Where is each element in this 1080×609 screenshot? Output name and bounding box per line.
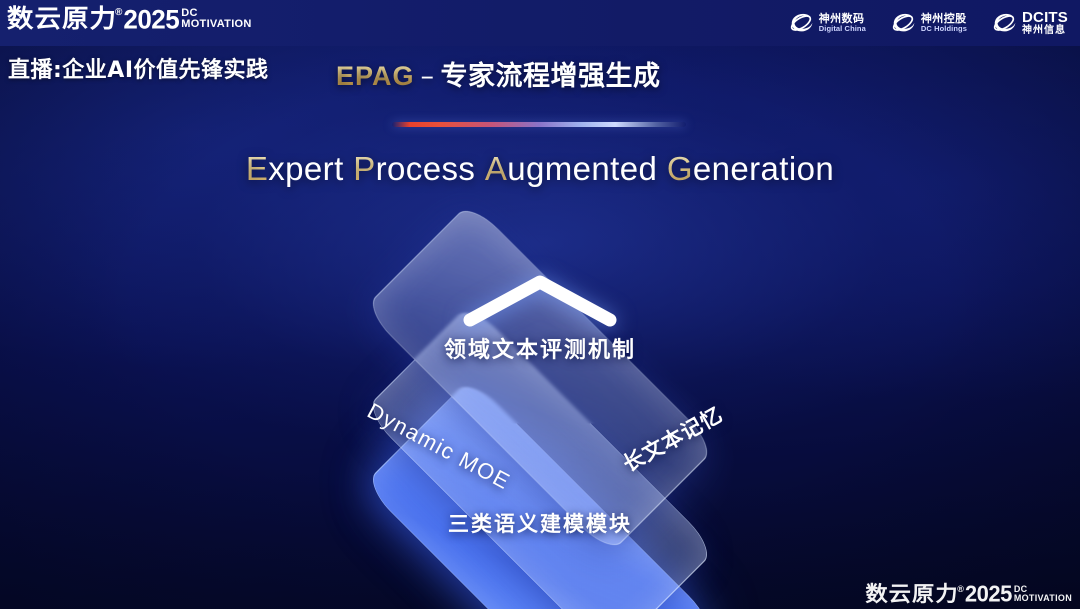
subtitle-rest-generation: eneration bbox=[693, 150, 834, 187]
chevron-up-icon bbox=[460, 272, 620, 330]
subtitle-cap-e: E bbox=[246, 150, 268, 187]
partner-name-en: 神州信息 bbox=[1022, 26, 1068, 37]
watermark-dc-motivation: DC MOTIVATION bbox=[1012, 583, 1072, 603]
presentation-slide: 数云原力 ® 2025 DC MOTIVATION 神州数码 Digital C… bbox=[0, 0, 1080, 609]
layer-bottom-label: 三类语义建模模块 bbox=[448, 508, 632, 538]
subtitle-rest-augmented: ugmented bbox=[507, 150, 657, 187]
watermark-year: 2025 bbox=[965, 583, 1012, 606]
page-title: EPAG–专家流程增强生成 bbox=[336, 54, 661, 93]
layer-top-label: 领域文本评测机制 bbox=[444, 332, 636, 364]
swirl-icon bbox=[890, 10, 916, 36]
watermark-name-cn: 数云原力 bbox=[866, 583, 959, 605]
brand-logo: 数云原力 ® 2025 DC MOTIVATION bbox=[10, 6, 252, 32]
partner-name-en: Digital China bbox=[819, 25, 866, 33]
watermark-logo: 数云原力 ® 2025 DC MOTIVATION bbox=[868, 583, 1072, 605]
brand-motivation: MOTIVATION bbox=[181, 19, 251, 30]
partner-text: DCITS 神州信息 bbox=[1022, 10, 1068, 36]
subtitle-rest-expert: xpert bbox=[268, 150, 343, 187]
partner-dc-holdings: 神州控股 DC Holdings bbox=[890, 10, 967, 36]
subtitle-rest-process: rocess bbox=[376, 150, 476, 187]
subtitle-cap-p: P bbox=[353, 150, 375, 187]
brand-year: 2025 bbox=[123, 5, 179, 32]
title-separator: – bbox=[415, 61, 441, 92]
layer-top-plate bbox=[363, 201, 716, 554]
title-acronym: EPAG bbox=[336, 61, 415, 91]
partner-digital-china: 神州数码 Digital China bbox=[788, 10, 866, 36]
brand-dc-motivation: DC MOTIVATION bbox=[179, 6, 251, 30]
english-subtitle: Expert Process Augmented Generation bbox=[0, 150, 1080, 188]
partner-text: 神州数码 Digital China bbox=[819, 13, 866, 32]
partner-text: 神州控股 DC Holdings bbox=[921, 13, 967, 32]
swirl-icon bbox=[788, 10, 814, 36]
partner-logos: 神州数码 Digital China 神州控股 DC Holdings DCIT… bbox=[788, 5, 1068, 41]
partner-dcits: DCITS 神州信息 bbox=[991, 10, 1068, 36]
partner-name-cn: DCITS bbox=[1022, 10, 1068, 26]
partner-name-en: DC Holdings bbox=[921, 25, 967, 33]
brand-name-cn: 数云原力 bbox=[7, 6, 117, 32]
title-chinese: 专家流程增强生成 bbox=[441, 61, 661, 92]
live-stream-subtitle: 直播:企业AI价值先锋实践 bbox=[8, 52, 269, 84]
watermark-motivation: MOTIVATION bbox=[1014, 594, 1072, 603]
subtitle-cap-g: G bbox=[667, 150, 693, 187]
subtitle-cap-a: A bbox=[485, 150, 507, 187]
swirl-icon bbox=[991, 10, 1017, 36]
gradient-divider bbox=[392, 122, 686, 127]
